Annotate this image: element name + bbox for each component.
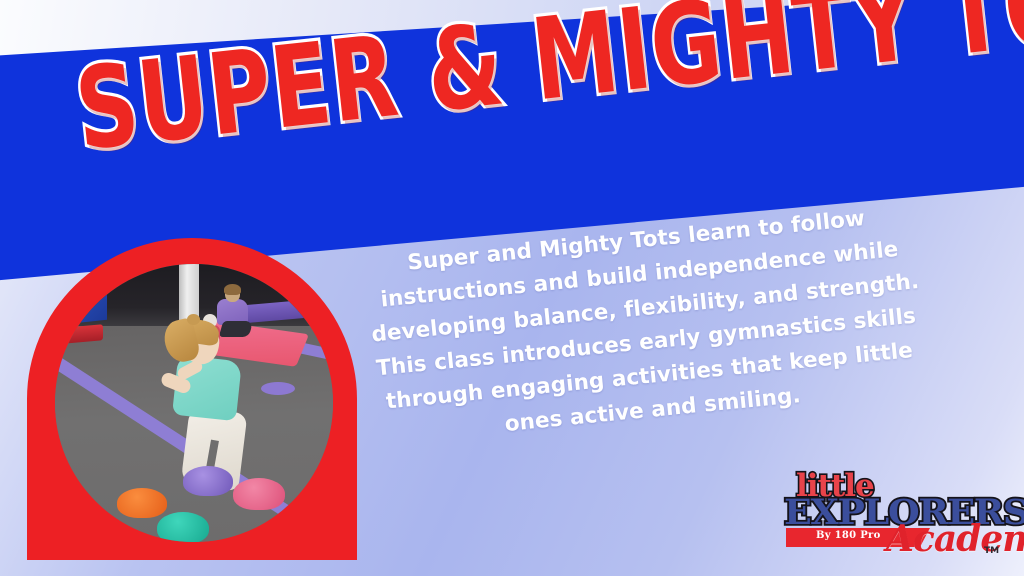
floor-purple-spot: [261, 382, 295, 395]
balance-dome-orange: [117, 488, 167, 518]
balance-dome-teal: [157, 512, 209, 542]
gym-blue-pad: [65, 292, 107, 324]
balance-dome-purple: [183, 466, 233, 496]
promo-poster: SUPER & MIGHTY TOTS: [0, 0, 1024, 576]
gym-photo: [55, 264, 333, 542]
brand-logo: EXPLORERS little By 180 Pro Academy TM: [782, 468, 1000, 564]
coach-hair: [224, 284, 241, 295]
logo-academy-text: Academy: [886, 518, 1024, 560]
logo-trademark-symbol: TM: [984, 546, 999, 556]
balance-dome-pink: [233, 478, 285, 510]
logo-byline-text: By 180 Pro: [816, 530, 881, 541]
child-hair-tie: [187, 314, 200, 325]
